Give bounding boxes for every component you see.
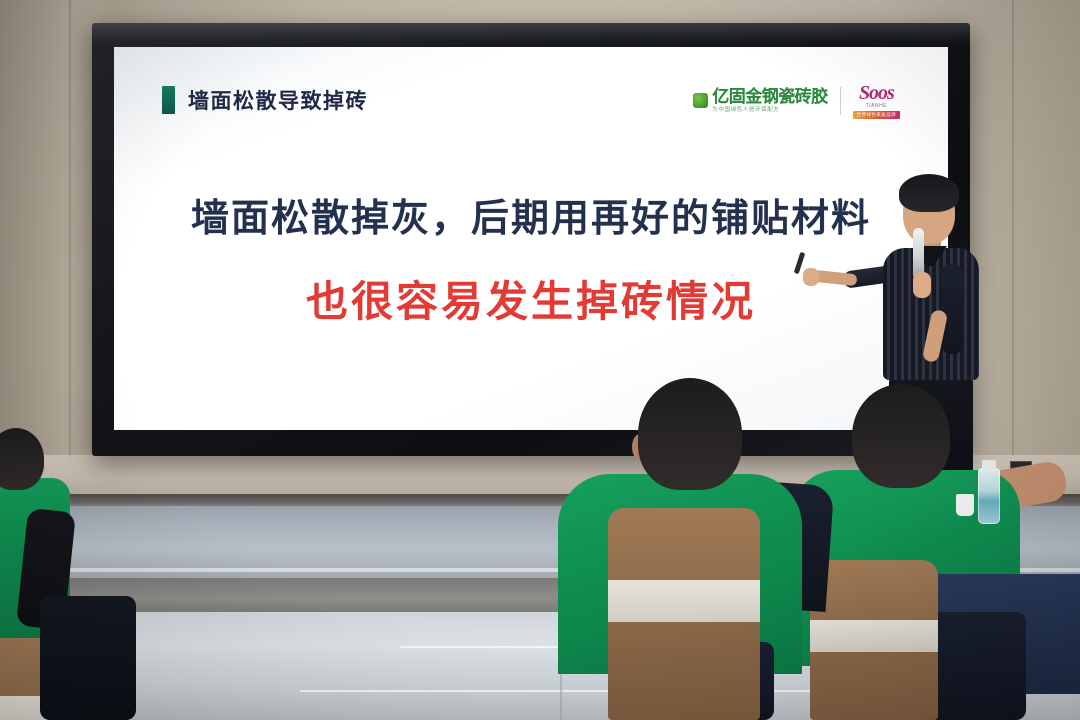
wall-seam [69,0,71,470]
secondary-brand-logo: Soos TIANHE 世界绿色家居品牌 [853,83,900,119]
slide-header-title: 墙面松散导致掉砖 [188,85,368,115]
presenter-right-arm [941,264,963,354]
slide-body: 墙面松散掉灰，后期用再好的铺贴材料 也很容易发生掉砖情况 [114,187,948,329]
wall-panel-shadow [0,0,96,470]
audience-legs-left [40,596,136,720]
presenter-left-hand [803,268,819,286]
secondary-brand-script: Soos [859,83,894,103]
header-marker-icon [162,86,175,114]
secondary-brand-subtitle: TIANHE [866,104,887,109]
chair-band [608,580,760,622]
audience-head [638,378,742,490]
secondary-brand-badge: 世界绿色家居品牌 [853,111,900,119]
presenter-hair [899,174,959,212]
water-bottle [978,468,1000,524]
leaf-logo-icon [693,93,708,108]
presentation-scene: 墙面松散导致掉砖 亿固金钢瓷砖胶 为中国绿色人居环保配方 Soos TIANHE [0,0,1080,720]
primary-brand-logo: 亿固金钢瓷砖胶 为中国绿色人居环保配方 [693,88,828,114]
slide-header: 墙面松散导致掉砖 [162,85,368,115]
chair [608,508,760,720]
slide-logo-group: 亿固金钢瓷砖胶 为中国绿色人居环保配方 Soos TIANHE 世界绿色家居品牌 [693,83,900,119]
display-screen: 墙面松散导致掉砖 亿固金钢瓷砖胶 为中国绿色人居环保配方 Soos TIANHE [114,47,948,430]
slide-headline-primary: 墙面松散掉灰，后期用再好的铺贴材料 [191,187,871,242]
water-bottle-cap [982,460,996,470]
audience-head [852,384,950,488]
logo-divider [840,87,841,115]
presentation-slide: 墙面松散导致掉砖 亿固金钢瓷砖胶 为中国绿色人居环保配方 Soos TIANHE [114,47,948,430]
primary-brand-name: 亿固金钢瓷砖胶 [712,88,828,105]
audience-head [0,428,44,490]
paper-cup [956,494,974,516]
presenter-right-hand [913,272,931,298]
primary-brand-subtitle: 为中国绿色人居环保配方 [712,108,828,114]
slide-headline-emphasis: 也很容易发生掉砖情况 [306,268,756,329]
